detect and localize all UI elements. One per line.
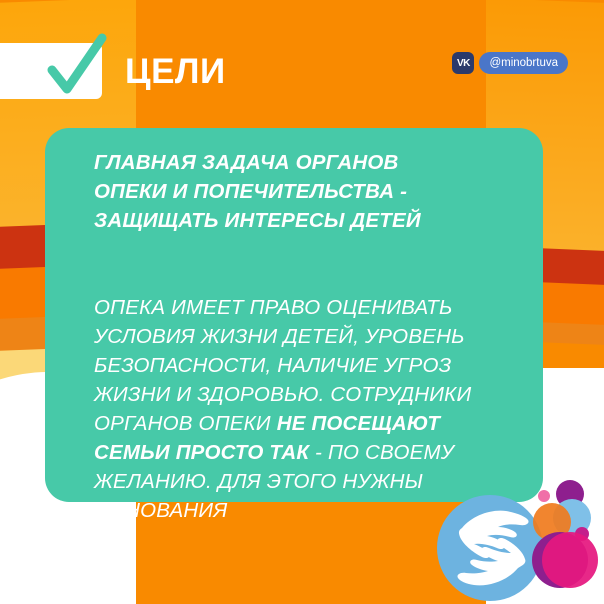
- checkmark-badge-box: [0, 43, 102, 99]
- social-badge[interactable]: VK @minobrtuva: [452, 52, 568, 74]
- page-title: ЦЕЛИ: [125, 52, 226, 92]
- card-heading-line-3: ЗАЩИЩАТЬ ИНТЕРЕСЫ ДЕТЕЙ: [94, 209, 421, 232]
- hands-circle-logo: [432, 476, 598, 602]
- card-heading: ГЛАВНАЯ ЗАДАЧА ОРГАНОВ ОПЕКИ И ПОПЕЧИТЕЛ…: [94, 148, 514, 235]
- logo-blue-circle: [437, 495, 543, 601]
- logo-dot-pink-small: [538, 490, 550, 502]
- poster-canvas: ЦЕЛИ VK @minobrtuva ГЛАВНАЯ ЗАДАЧА ОРГАН…: [0, 0, 604, 604]
- card-heading-line-1: ГЛАВНАЯ ЗАДАЧА ОРГАНОВ: [94, 151, 399, 174]
- logo-circle-magenta-large: [542, 532, 598, 588]
- card-heading-line-2: ОПЕКИ И ПОПЕЧИТЕЛЬСТВА -: [94, 180, 407, 203]
- social-handle[interactable]: @minobrtuva: [479, 52, 568, 74]
- vk-logo-icon[interactable]: VK: [452, 52, 474, 74]
- card-text-block: ГЛАВНАЯ ЗАДАЧА ОРГАНОВ ОПЕКИ И ПОПЕЧИТЕЛ…: [94, 148, 514, 525]
- content-card: ГЛАВНАЯ ЗАДАЧА ОРГАНОВ ОПЕКИ И ПОПЕЧИТЕЛ…: [45, 128, 543, 502]
